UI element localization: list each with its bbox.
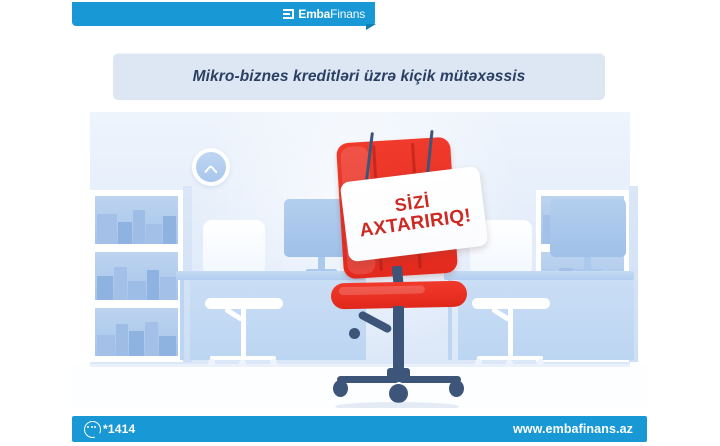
page-title: Mikro-biznes kreditləri üzrə kiçik mütəx…: [193, 68, 526, 86]
wall-clock-icon: [192, 148, 230, 186]
footer-phone-group[interactable]: *1414: [84, 421, 135, 438]
white-chair-left-wheel: [270, 359, 277, 366]
red-chair-shadow: [335, 402, 459, 408]
brand-header-bar: EmbaFinans: [72, 2, 375, 26]
desk-right-top: [444, 271, 634, 280]
clock-hand-minute: [204, 165, 212, 173]
red-chair-base-arm: [337, 376, 399, 383]
desk-left-leg: [180, 280, 184, 360]
white-chair-left-post: [241, 308, 246, 358]
footer-phone-number: *1414: [103, 422, 135, 436]
brand-logo-text: EmbaFinans: [298, 8, 365, 20]
white-chair-left-back: [203, 220, 265, 272]
white-chair-left-wheel: [208, 359, 215, 366]
poster-canvas: EmbaFinans Mikro-biznes kreditləri üzrə …: [0, 0, 720, 446]
desk-right-body: [458, 280, 634, 360]
footer-website[interactable]: www.embafinans.az: [513, 422, 633, 436]
white-chair-right-wheel: [537, 359, 544, 366]
shelf-row: [95, 196, 178, 244]
hiring-sign-card: SİZİ AXTARIRIQ!: [340, 166, 489, 262]
brand-logo-light: Finans: [330, 7, 365, 21]
shelf-row: [95, 252, 178, 300]
red-chair-height-lever: [357, 310, 393, 334]
clock-face: [196, 152, 226, 182]
white-chair-right-post: [508, 308, 513, 358]
monitor-right: [550, 199, 626, 257]
bookshelf-left: [90, 190, 183, 362]
brand-logo[interactable]: EmbaFinans: [283, 2, 365, 26]
brand-logo-bold: Emba: [298, 7, 330, 21]
white-chair-right-wheel: [475, 359, 482, 366]
call-center-speech-icon: [84, 421, 101, 438]
red-chair-caster: [449, 380, 464, 397]
white-chair-left-wheel: [239, 360, 246, 367]
shelf-row: [95, 308, 178, 356]
contact-footer-bar: *1414 www.embafinans.az: [72, 416, 647, 442]
sign-line-2: AXTARIRIQ!: [358, 207, 472, 242]
office-illustration: SİZİ AXTARIRIQ!: [72, 112, 647, 408]
hiring-sign: SİZİ AXTARIRIQ!: [344, 174, 484, 260]
red-chair-seat-highlight: [339, 285, 425, 295]
red-chair-caster: [333, 380, 348, 397]
vacancy-title-banner: Mikro-biznes kreditləri üzrə kiçik mütəx…: [113, 53, 605, 100]
emba-bars-logo-icon: [283, 9, 294, 20]
red-chair-lever-knob: [349, 328, 360, 339]
red-chair-gas-post: [393, 306, 404, 376]
red-chair-caster: [389, 384, 408, 403]
white-chair-right-wheel: [506, 360, 513, 367]
